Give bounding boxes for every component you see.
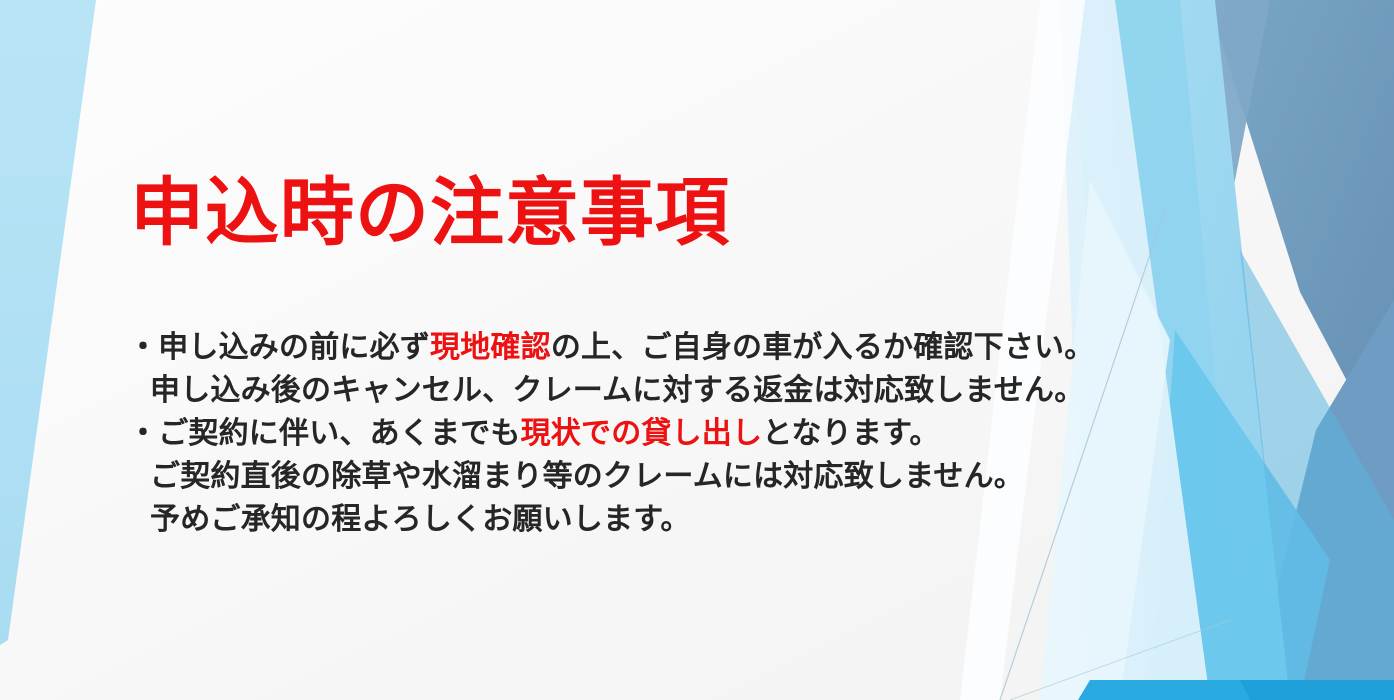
body-line: ・申し込みの前に必ず現地確認の上、ご自身の車が入るか確認下さい。 bbox=[128, 326, 1128, 369]
body-text: の上、ご自身の車が入るか確認下さい。 bbox=[551, 331, 1095, 364]
body-text-block: ・申し込みの前に必ず現地確認の上、ご自身の車が入るか確認下さい。申し込み後のキャ… bbox=[128, 326, 1128, 541]
bullet-icon: ・ bbox=[128, 417, 158, 450]
body-line: ご契約直後の除草や水溜まり等のクレームには対応致しません。 bbox=[128, 455, 1128, 498]
body-text: となります。 bbox=[762, 417, 939, 450]
emphasis-text: 現状での貸し出し bbox=[521, 417, 763, 450]
page-title: 申込時の注意事項 bbox=[130, 176, 730, 250]
body-text: 申し込みの前に必ず bbox=[158, 331, 430, 364]
body-text: 申し込み後のキャンセル、クレームに対する返金は対応致しません。 bbox=[150, 374, 1084, 407]
body-text: 予めご承知の程よろしくお願いします。 bbox=[150, 503, 691, 536]
emphasis-text: 現地確認 bbox=[430, 331, 551, 364]
presentation-slide: 申込時の注意事項 ・申し込みの前に必ず現地確認の上、ご自身の車が入るか確認下さい… bbox=[0, 0, 1394, 700]
bullet-icon: ・ bbox=[128, 331, 158, 364]
body-line: ・ご契約に伴い、あくまでも現状での貸し出しとなります。 bbox=[128, 412, 1128, 455]
body-text: ご契約直後の除草や水溜まり等のクレームには対応致しません。 bbox=[150, 460, 1024, 493]
body-line: 申し込み後のキャンセル、クレームに対する返金は対応致しません。 bbox=[128, 369, 1128, 412]
body-line: 予めご承知の程よろしくお願いします。 bbox=[128, 498, 1128, 541]
body-text: ご契約に伴い、あくまでも bbox=[158, 417, 520, 450]
